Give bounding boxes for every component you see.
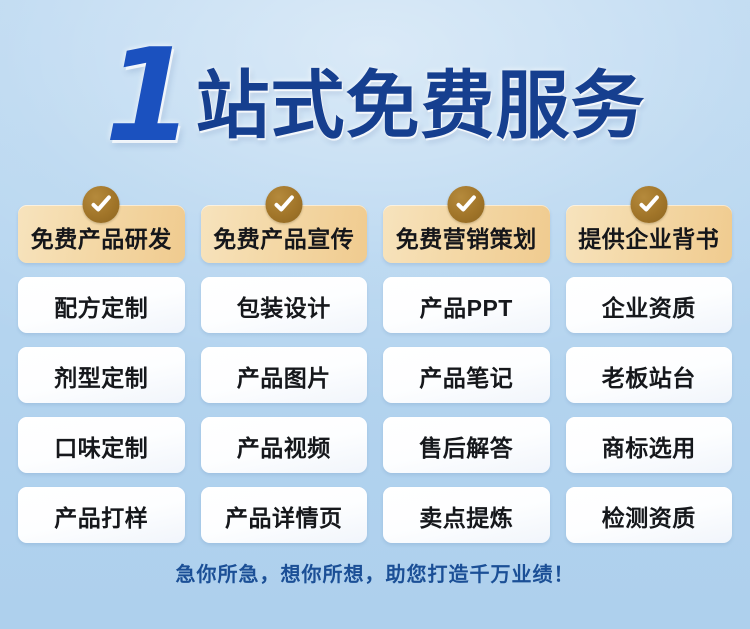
service-item-label: 剂型定制 — [54, 359, 148, 393]
service-column-header-label: 免费产品宣传 — [213, 220, 354, 254]
service-column-header-label: 免费营销策划 — [396, 220, 537, 254]
check-circle-icon — [448, 186, 485, 223]
service-item-label: 企业资质 — [602, 289, 696, 323]
service-item[interactable]: 产品PPT — [383, 277, 550, 333]
footer-slogan: 急你所急，想你所想，助您打造千万业绩！ — [0, 558, 750, 587]
service-item-label: 产品PPT — [420, 289, 513, 323]
service-item[interactable]: 剂型定制 — [18, 347, 185, 403]
service-item[interactable]: 口味定制 — [18, 417, 185, 473]
promo-poster: 1 站式免费服务 免费产品研发 免费产品宣传 — [0, 0, 750, 629]
service-item-label: 检测资质 — [602, 499, 696, 533]
service-item[interactable]: 检测资质 — [566, 487, 733, 543]
service-column-header-4[interactable]: 提供企业背书 — [566, 205, 733, 263]
service-item[interactable]: 产品图片 — [201, 347, 368, 403]
check-circle-icon — [265, 186, 302, 223]
service-item[interactable]: 配方定制 — [18, 277, 185, 333]
service-column-header-2[interactable]: 免费产品宣传 — [201, 205, 368, 263]
service-item[interactable]: 售后解答 — [383, 417, 550, 473]
title-text: 站式免费服务 — [196, 69, 646, 143]
service-item-label: 产品视频 — [237, 429, 331, 463]
service-item-label: 产品笔记 — [419, 359, 513, 393]
check-circle-icon — [630, 186, 667, 223]
service-item[interactable]: 产品视频 — [201, 417, 368, 473]
service-item[interactable]: 产品笔记 — [383, 347, 550, 403]
service-grid: 免费产品研发 免费产品宣传 免费营销策划 — [18, 205, 732, 543]
service-column-header-label: 提供企业背书 — [578, 220, 719, 254]
service-item-label: 产品图片 — [237, 359, 331, 393]
title-row: 1 站式免费服务 — [104, 25, 645, 153]
service-column-header-label: 免费产品研发 — [31, 220, 172, 254]
service-item-label: 包装设计 — [237, 289, 331, 323]
service-item-label: 产品打样 — [54, 499, 148, 533]
check-circle-icon — [83, 186, 120, 223]
service-item[interactable]: 包装设计 — [201, 277, 368, 333]
service-item-label: 配方定制 — [54, 289, 148, 323]
service-column-header-3[interactable]: 免费营销策划 — [383, 205, 550, 263]
service-item-label: 产品详情页 — [225, 499, 343, 533]
service-item[interactable]: 产品打样 — [18, 487, 185, 543]
service-item-label: 口味定制 — [54, 429, 148, 463]
service-item-label: 卖点提炼 — [419, 499, 513, 533]
service-item[interactable]: 卖点提炼 — [383, 487, 550, 543]
service-item-label: 老板站台 — [602, 359, 696, 393]
service-item[interactable]: 企业资质 — [566, 277, 733, 333]
service-item[interactable]: 商标选用 — [566, 417, 733, 473]
service-item-label: 商标选用 — [602, 429, 696, 463]
service-item-label: 售后解答 — [419, 429, 513, 463]
page-title: 1 站式免费服务 — [0, 24, 750, 154]
service-item[interactable]: 老板站台 — [566, 347, 733, 403]
title-number: 1 — [104, 33, 189, 161]
service-column-header-1[interactable]: 免费产品研发 — [18, 205, 185, 263]
service-item[interactable]: 产品详情页 — [201, 487, 368, 543]
